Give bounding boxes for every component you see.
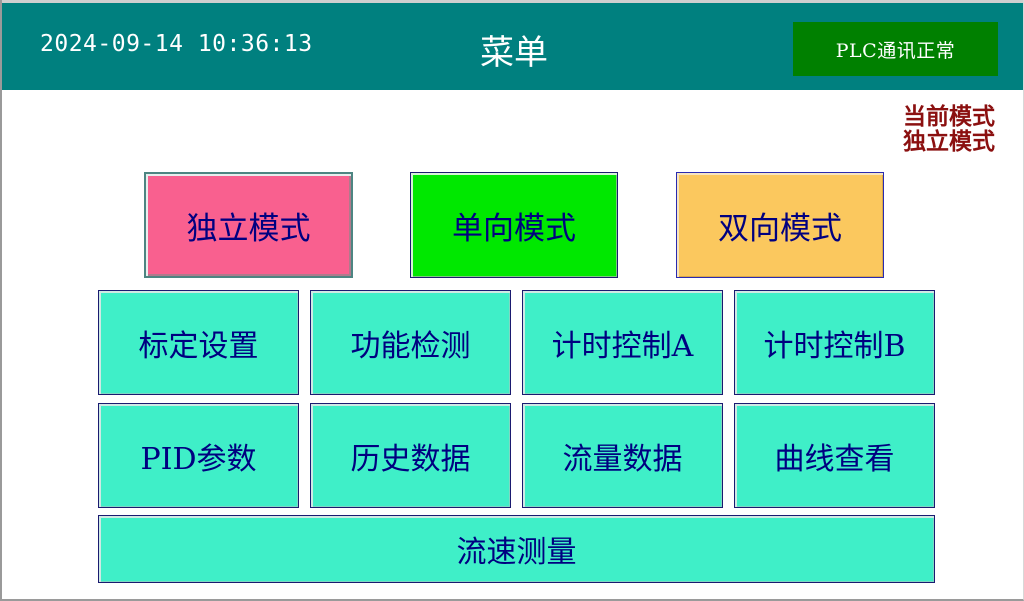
hmi-screen: 2024-09-14 10:36:13 菜单 PLC通讯正常 当前模式 独立模式… — [0, 0, 1024, 601]
current-mode-label: 当前模式 — [903, 104, 995, 129]
current-mode-indicator: 当前模式 独立模式 — [903, 104, 995, 154]
function-button-pid-parameters[interactable]: PID参数 — [98, 403, 299, 508]
function-button-flow-speed-measurement[interactable]: 流速测量 — [98, 515, 935, 583]
function-button-curve-view[interactable]: 曲线查看 — [734, 403, 935, 508]
function-button-flow-data[interactable]: 流量数据 — [522, 403, 723, 508]
function-button-timer-control-a[interactable]: 计时控制A — [522, 290, 723, 395]
header-bar: 2024-09-14 10:36:13 菜单 PLC通讯正常 — [2, 0, 1024, 90]
current-mode-value: 独立模式 — [903, 129, 995, 154]
mode-button-independent[interactable]: 独立模式 — [144, 172, 353, 278]
function-button-timer-control-b[interactable]: 计时控制B — [734, 290, 935, 395]
mode-button-twoway[interactable]: 双向模式 — [676, 172, 884, 278]
mode-button-oneway[interactable]: 单向模式 — [410, 172, 618, 278]
status-badge-plc: PLC通讯正常 — [793, 22, 998, 76]
function-button-history-data[interactable]: 历史数据 — [310, 403, 511, 508]
function-button-calibration-settings[interactable]: 标定设置 — [98, 290, 299, 395]
function-button-function-test[interactable]: 功能检测 — [310, 290, 511, 395]
